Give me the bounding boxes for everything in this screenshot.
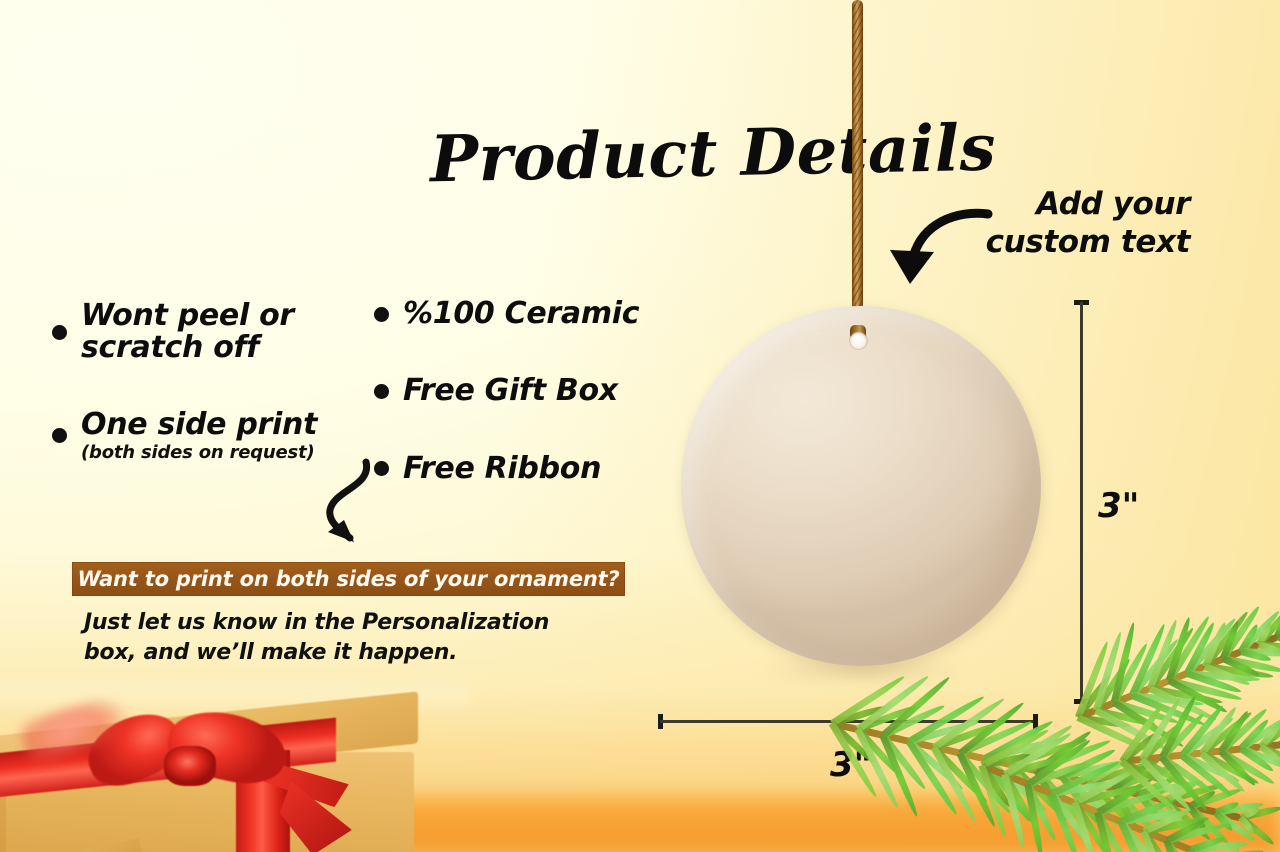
dimension-label-height: 3" — [1098, 486, 1139, 526]
feature-sublabel: (both sides on request) — [81, 442, 317, 463]
both-sides-banner: Want to print on both sides of your orna… — [72, 562, 625, 596]
dimension-line-vertical — [1074, 300, 1088, 704]
feature-label: One side print — [81, 407, 317, 442]
feature-label: Free Gift Box — [403, 375, 618, 407]
list-item: %100 Ceramic — [374, 298, 674, 330]
gift-box-photo — [0, 690, 448, 852]
callout-line-2: custom text — [986, 224, 1190, 260]
list-item: Wont peel or scratch off — [52, 300, 382, 365]
dimension-shaft — [1080, 302, 1083, 702]
feature-label: %100 Ceramic — [403, 298, 639, 330]
feature-list-left: Wont peel or scratch off One side print … — [52, 300, 382, 463]
bullet-dot-icon — [52, 428, 67, 443]
curved-arrow-down-icon — [288, 452, 398, 562]
banner-heading: Want to print on both sides of your orna… — [78, 567, 620, 591]
feature-label: Free Ribbon — [403, 453, 601, 485]
ornament-cord — [852, 0, 863, 348]
dimension-cap-bottom — [1074, 699, 1089, 704]
ornament-hole — [850, 332, 867, 349]
dimension-cap-right — [1033, 714, 1038, 729]
list-item: Free Ribbon — [374, 453, 674, 485]
curved-arrow-down-left-icon — [884, 206, 994, 296]
callout-line-1: Add your — [1036, 186, 1190, 222]
list-item: Free Gift Box — [374, 375, 674, 407]
dimension-line-horizontal — [658, 714, 1038, 728]
bullet-dot-icon — [374, 384, 389, 399]
page-title: Product Details — [429, 114, 850, 198]
feature-list-right: %100 Ceramic Free Gift Box Free Ribbon — [374, 298, 674, 485]
product-details-graphic: Product Details Wont peel or scratch off… — [0, 0, 1280, 852]
dimension-shaft — [660, 720, 1036, 723]
giftbox-bow-knot — [164, 746, 216, 786]
dimension-label-width: 3" — [830, 745, 871, 785]
banner-note: Just let us know in the Personalization … — [84, 608, 604, 669]
ceramic-ornament — [681, 306, 1041, 666]
bullet-dot-icon — [374, 307, 389, 322]
bullet-dot-icon — [52, 325, 67, 340]
feature-label: Wont peel or scratch off — [81, 300, 382, 365]
